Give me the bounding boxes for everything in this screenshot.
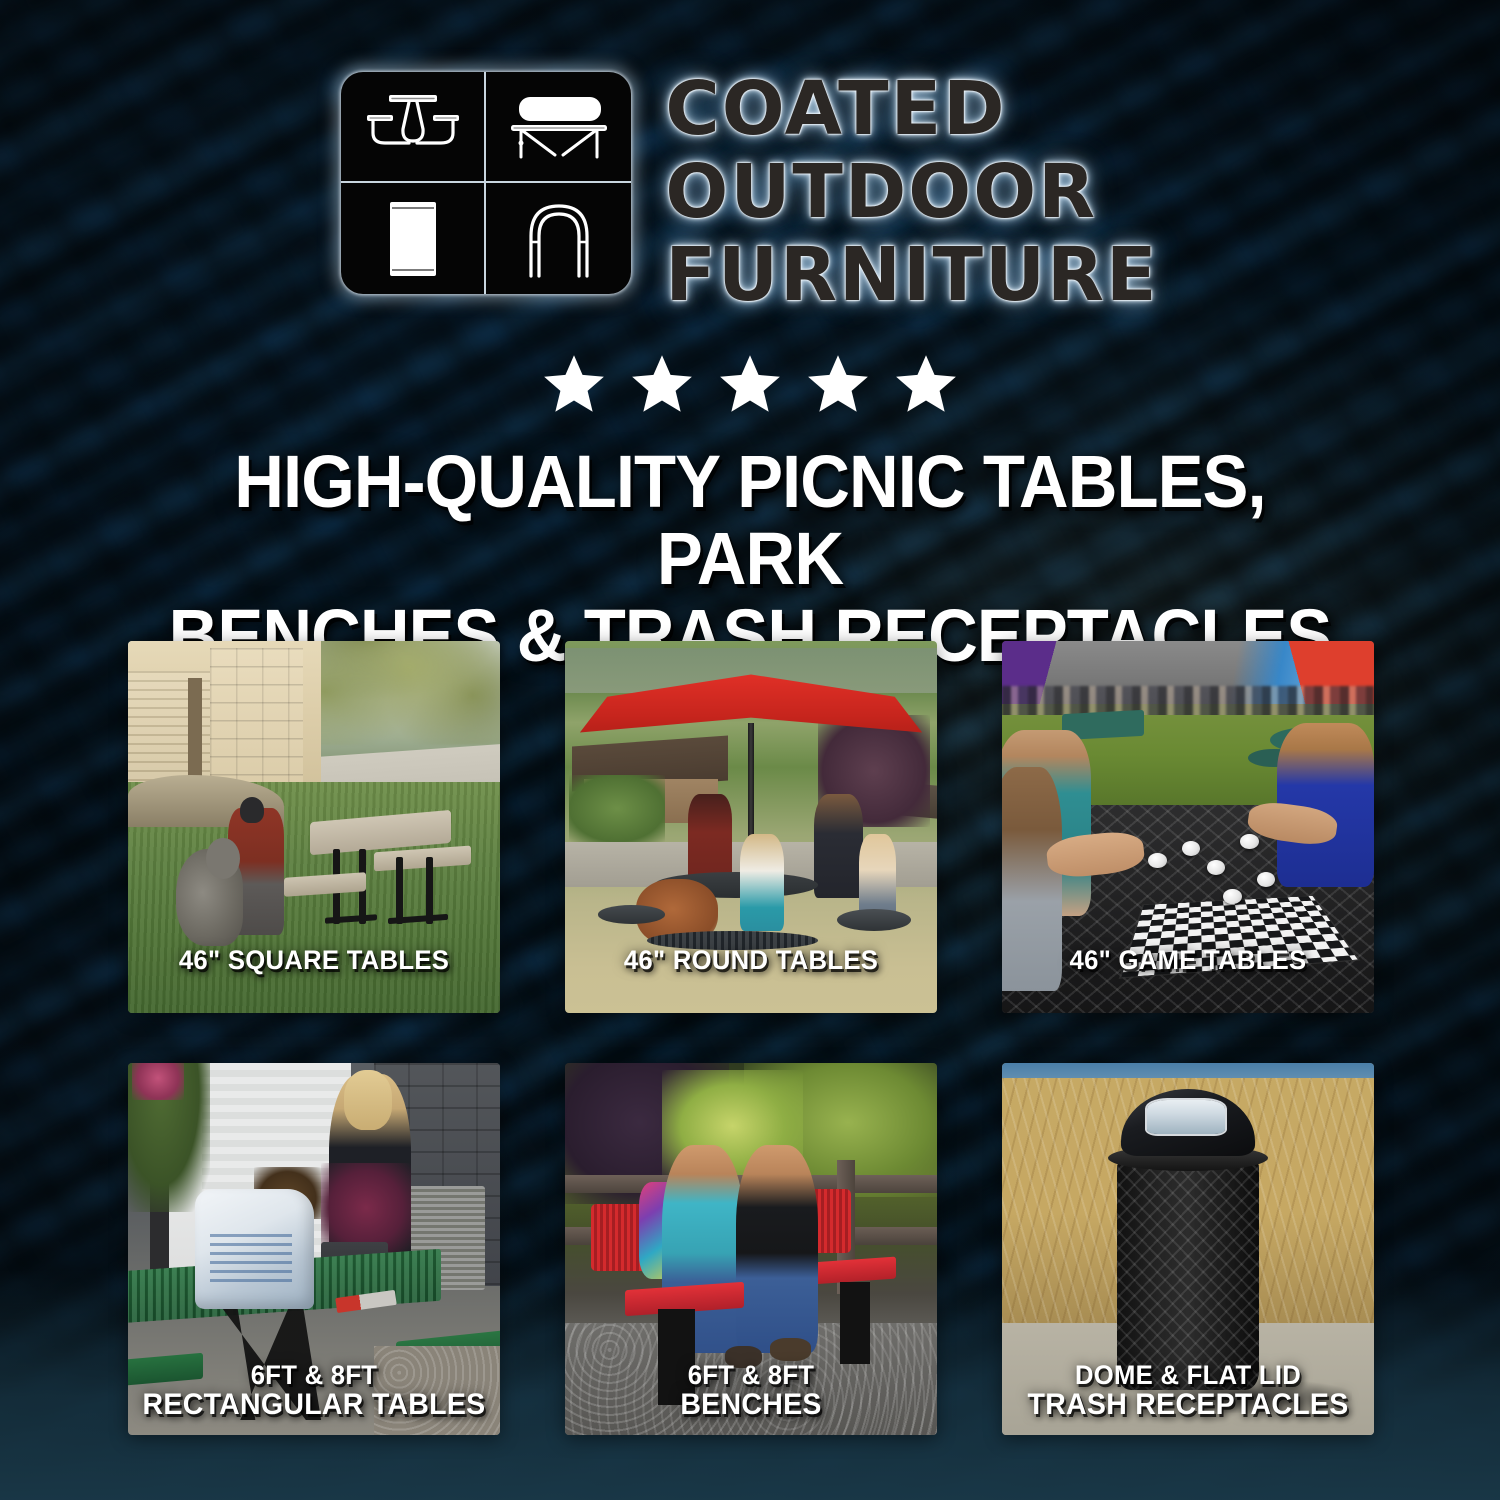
star-rating — [0, 352, 1500, 416]
park-bench-icon — [486, 72, 631, 183]
caption-line-1: 46" GAME TABLES — [1011, 946, 1364, 975]
brand-logo: COATED OUTDOOR FURNITURE — [0, 72, 1500, 311]
bike-rack-icon — [486, 183, 631, 294]
product-tile-benches[interactable]: 6FT & 8FT BENCHES — [565, 1063, 937, 1435]
star-icon — [893, 352, 959, 416]
product-caption-rectangular-tables: 6FT & 8FT RECTANGULAR TABLES — [128, 1361, 500, 1421]
product-caption-square-tables: 46" SQUARE TABLES — [128, 946, 500, 975]
logo-mark-icon — [341, 72, 631, 294]
star-icon — [629, 352, 695, 416]
caption-line-1: 46" SQUARE TABLES — [137, 946, 490, 975]
product-tile-square-tables[interactable]: 46" SQUARE TABLES — [128, 641, 500, 1013]
picnic-table-icon — [341, 72, 486, 183]
product-caption-round-tables: 46" ROUND TABLES — [565, 946, 937, 975]
brand-wordmark: COATED OUTDOOR FURNITURE — [665, 72, 1158, 311]
star-icon — [541, 352, 607, 416]
caption-line-1: 46" ROUND TABLES — [574, 946, 927, 975]
brand-name-line-1: COATED — [665, 74, 1158, 145]
product-tile-round-tables[interactable]: 46" ROUND TABLES — [565, 641, 937, 1013]
trash-receptacle-icon — [341, 183, 486, 294]
caption-line-1: 6FT & 8FT — [137, 1361, 490, 1390]
caption-line-1: 6FT & 8FT — [574, 1361, 927, 1390]
headline-line-1: HIGH-QUALITY PICNIC TABLES, PARK — [136, 444, 1364, 598]
star-icon — [805, 352, 871, 416]
product-tile-game-tables[interactable]: 46" GAME TABLES — [1002, 641, 1374, 1013]
brand-name-line-3: FURNITURE — [665, 240, 1158, 311]
promotional-banner: COATED OUTDOOR FURNITURE HIGH-QUALITY PI… — [0, 0, 1500, 1500]
caption-line-1: DOME & FLAT LID — [1011, 1361, 1364, 1390]
product-category-grid: 46" SQUARE TABLES 46" — [128, 641, 1373, 1435]
caption-line-2: BENCHES — [574, 1389, 927, 1421]
product-tile-trash-receptacles[interactable]: DOME & FLAT LID TRASH RECEPTACLES — [1002, 1063, 1374, 1435]
product-caption-game-tables: 46" GAME TABLES — [1002, 946, 1374, 975]
product-caption-trash-receptacles: DOME & FLAT LID TRASH RECEPTACLES — [1002, 1361, 1374, 1421]
product-caption-benches: 6FT & 8FT BENCHES — [565, 1361, 937, 1421]
caption-line-2: TRASH RECEPTACLES — [1011, 1389, 1364, 1421]
star-icon — [717, 352, 783, 416]
caption-line-2: RECTANGULAR TABLES — [137, 1389, 490, 1421]
product-tile-rectangular-tables[interactable]: 6FT & 8FT RECTANGULAR TABLES — [128, 1063, 500, 1435]
brand-name-line-2: OUTDOOR — [665, 157, 1158, 228]
